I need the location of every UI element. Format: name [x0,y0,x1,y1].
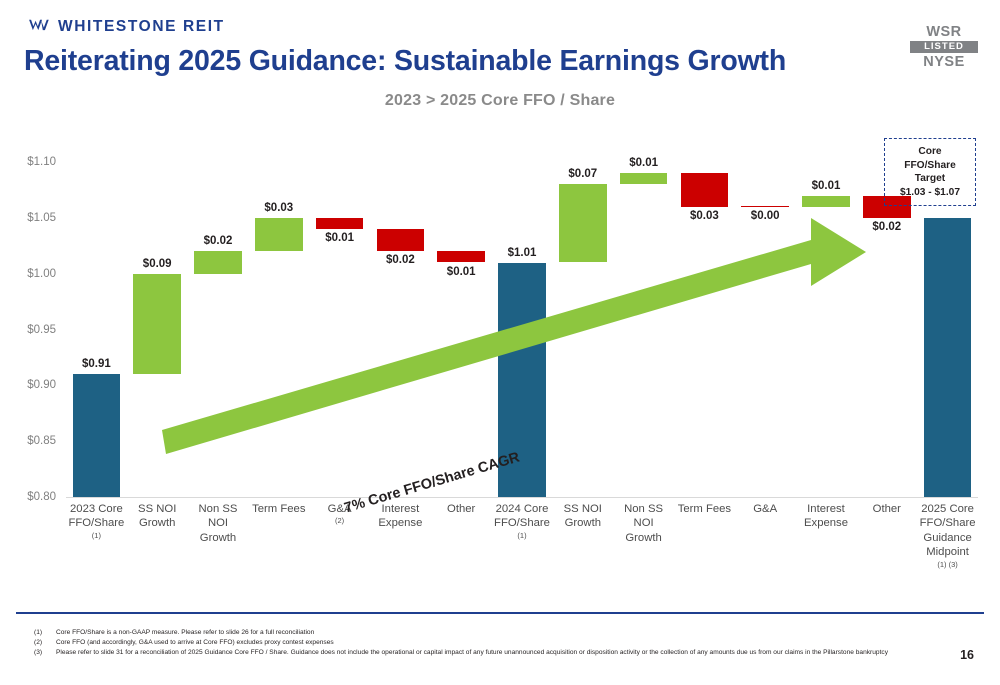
y-axis-tick-label: $0.85 [0,435,56,447]
listed-label: LISTED [910,41,978,53]
footnote-row: (1)Core FFO/Share is a non-GAAP measure.… [34,628,894,638]
bar-value-label: $0.01 [629,157,658,169]
logo-wordmark: WHITESTONE REIT [58,18,225,36]
waterfall-bar [559,184,606,262]
page-number: 16 [960,648,974,662]
footnote-text: Please refer to slide 31 for a reconcili… [56,648,894,658]
footnote-text: Core FFO/Share is a non-GAAP measure. Pl… [56,628,894,638]
target-range-value: $1.03 - $1.07 [900,187,960,198]
waterfall-bar [620,173,667,184]
y-axis-tick-label: $1.10 [0,156,56,168]
bar-value-label: $0.03 [690,210,719,222]
waterfall-bar [802,196,849,207]
target-line-1: Core [918,146,941,157]
bar-value-label: $0.09 [143,258,172,270]
ticker-symbol: WSR [926,24,961,40]
bar-value-label: $0.02 [872,221,901,233]
company-logo: WHITESTONE REIT [28,18,225,36]
target-line-3: Target [915,173,945,184]
bar-value-label: $0.01 [812,180,841,192]
plot-area: $0.91$0.09$0.02$0.03$0.01$0.02$0.01$1.01… [66,130,978,498]
waterfall-bar [437,251,484,262]
footnote-number: (2) [34,638,46,648]
nyse-listing-badge: WSR LISTED NYSE [910,24,978,70]
exchange-name: NYSE [923,54,965,70]
waterfall-bar [316,218,363,229]
chart-subtitle: 2023 > 2025 Core FFO / Share [0,92,1000,110]
y-axis-tick-label: $0.80 [0,491,56,503]
footnote-row: (3)Please refer to slide 31 for a reconc… [34,648,894,658]
footnotes-list: (1)Core FFO/Share is a non-GAAP measure.… [34,628,894,659]
bar-value-label: $0.01 [325,232,354,244]
target-line-2: FFO/Share [904,160,956,171]
bar-value-label: $0.91 [82,358,111,370]
x-axis-category-label: 2025 CoreFFO/ShareGuidanceMidpoint(1) (3… [910,502,985,569]
y-axis-tick-label: $0.95 [0,324,56,336]
page-title: Reiterating 2025 Guidance: Sustainable E… [24,45,786,78]
x-axis-line [66,497,978,498]
footnote-row: (2)Core FFO (and accordingly, G&A used t… [34,638,894,648]
whitestone-w-mark-icon [28,18,50,36]
bar-value-label: $0.01 [447,266,476,278]
y-axis-tick-label: $1.00 [0,268,56,280]
bar-value-label: $0.00 [751,210,780,222]
waterfall-bar [741,206,788,207]
bar-value-label: $0.02 [204,235,233,247]
waterfall-bar [133,274,180,375]
bar-value-label: $1.01 [508,247,537,259]
y-axis-tick-label: $0.90 [0,379,56,391]
target-callout-box: Core FFO/Share Target $1.03 - $1.07 [884,138,976,206]
footnote-number: (3) [34,648,46,658]
footnote-text: Core FFO (and accordingly, G&A used to a… [56,638,894,648]
waterfall-bar [681,173,728,207]
y-axis-tick-label: $1.05 [0,212,56,224]
waterfall-bar [924,218,971,497]
waterfall-bar [377,229,424,251]
footnote-number: (1) [34,628,46,638]
footer-divider [16,612,984,614]
bar-value-label: $0.07 [568,168,597,180]
waterfall-bar [194,251,241,273]
waterfall-chart: $0.91$0.09$0.02$0.03$0.01$0.02$0.01$1.01… [0,130,1000,580]
bar-value-label: $0.03 [264,202,293,214]
waterfall-bar [73,374,120,497]
waterfall-bar [255,218,302,252]
bar-value-label: $0.02 [386,254,415,266]
